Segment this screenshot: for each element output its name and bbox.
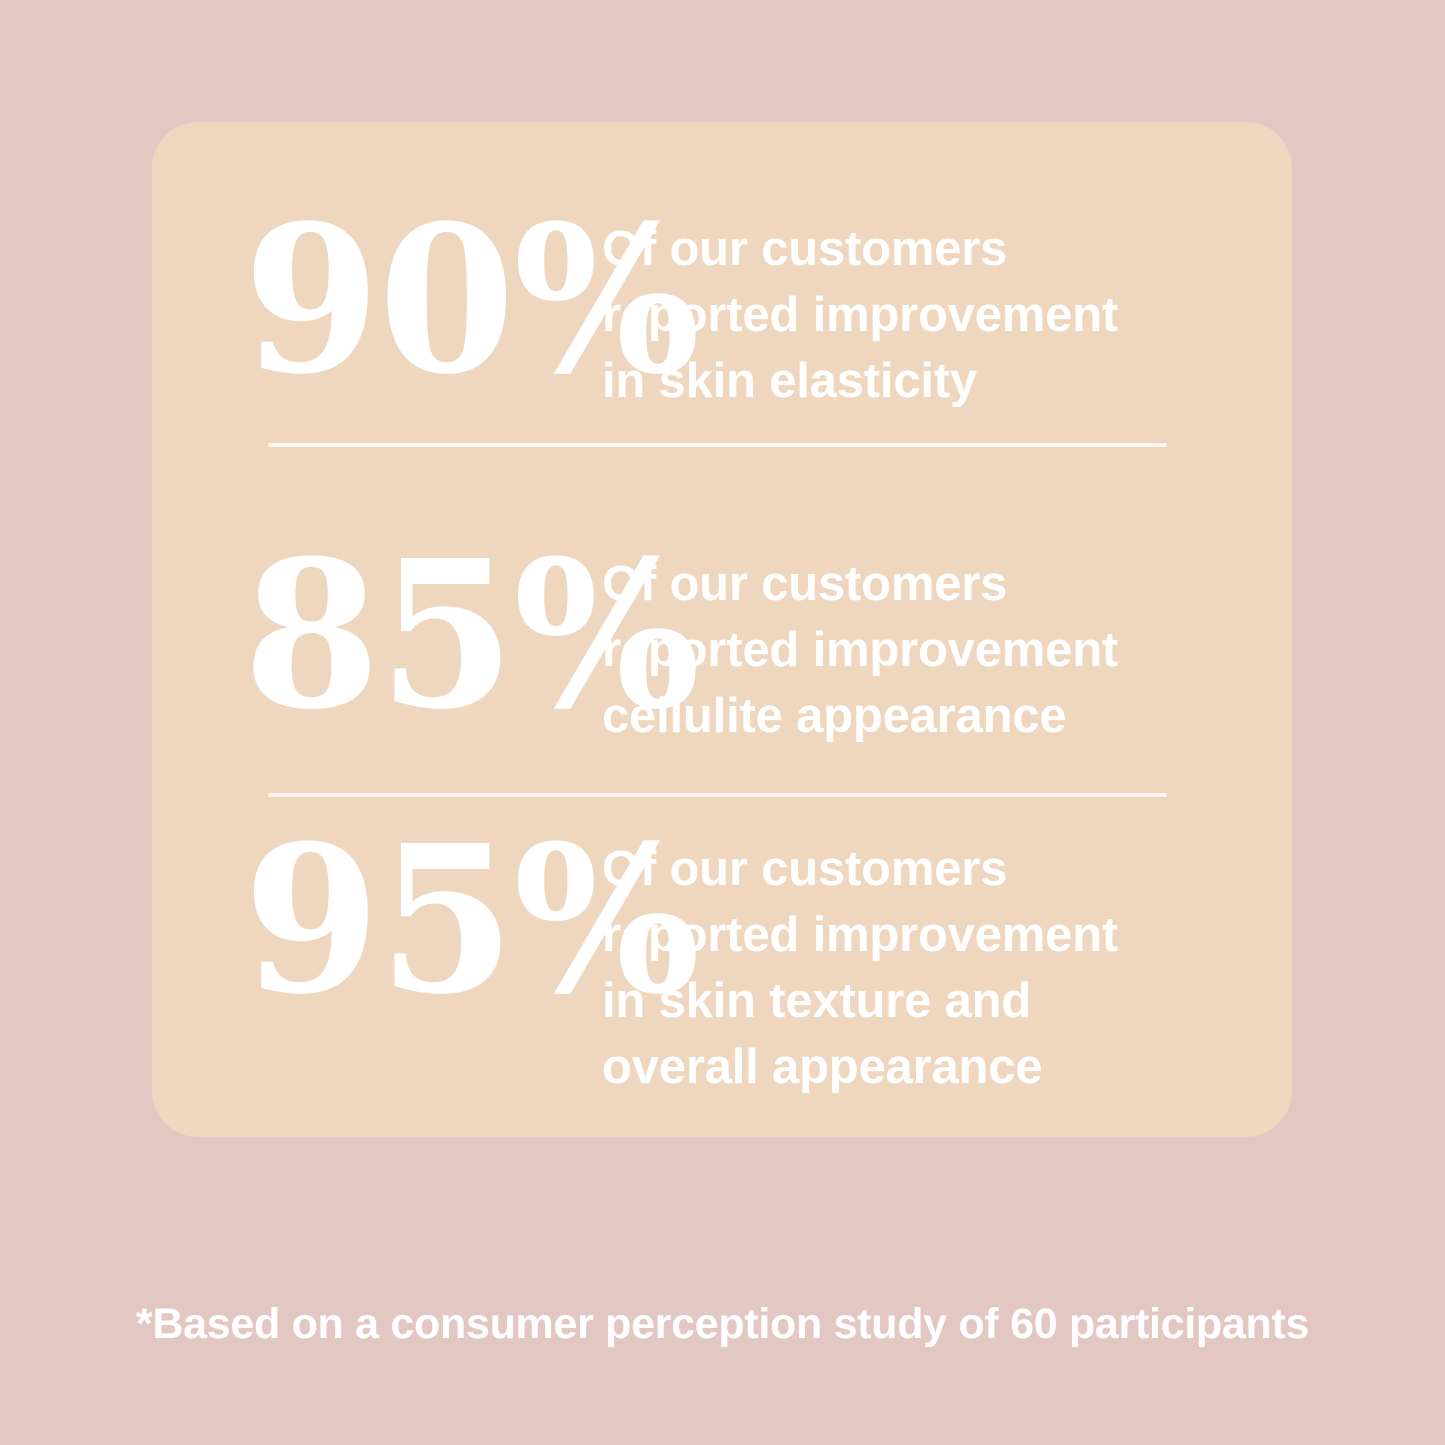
stat-description-line: overall appearance — [602, 1034, 1182, 1100]
stat-row-cellulite: 85% Of our customers reported improvemen… — [152, 537, 1292, 767]
stat-row-elasticity: 90% Of our customers reported improvemen… — [152, 202, 1292, 432]
stats-card: 90% Of our customers reported improvemen… — [152, 122, 1292, 1137]
divider — [268, 793, 1167, 797]
stat-figure-90: 90% — [152, 202, 589, 398]
footnote-disclaimer: *Based on a consumer perception study of… — [0, 1296, 1445, 1352]
infographic-canvas: { "colors": { "page_background": "#e3c7c… — [0, 0, 1445, 1445]
stat-figure-85: 85% — [152, 537, 589, 733]
stat-figure-95: 95% — [152, 822, 589, 1018]
stat-row-texture: 95% Of our customers reported improvemen… — [152, 822, 1292, 1112]
divider — [268, 443, 1167, 447]
